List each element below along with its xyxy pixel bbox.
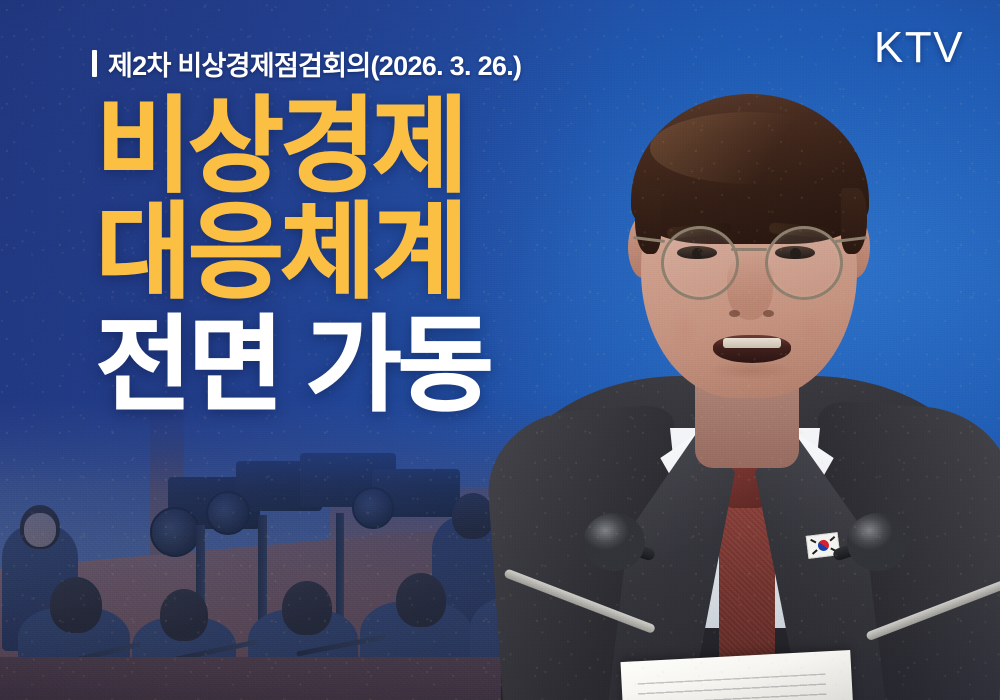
news-thumbnail-graphic: 제2차 비상경제점검회의(2026. 3. 26.) 비상경제 대응체계 전면 …	[0, 0, 1000, 700]
headline-line-3: 전면 가동	[96, 315, 490, 417]
subtitle-row: 제2차 비상경제점검회의(2026. 3. 26.)	[92, 44, 521, 83]
headline-block: 비상경제 대응체계 전면 가동	[96, 96, 490, 417]
ktv-logo: KTV	[874, 26, 964, 70]
headline-line-2: 대응체계	[96, 202, 490, 304]
vertical-bar-icon	[92, 50, 97, 77]
headline-line-1: 비상경제	[96, 96, 490, 198]
subtitle-text: 제2차 비상경제점검회의(2026. 3. 26.)	[108, 44, 521, 83]
